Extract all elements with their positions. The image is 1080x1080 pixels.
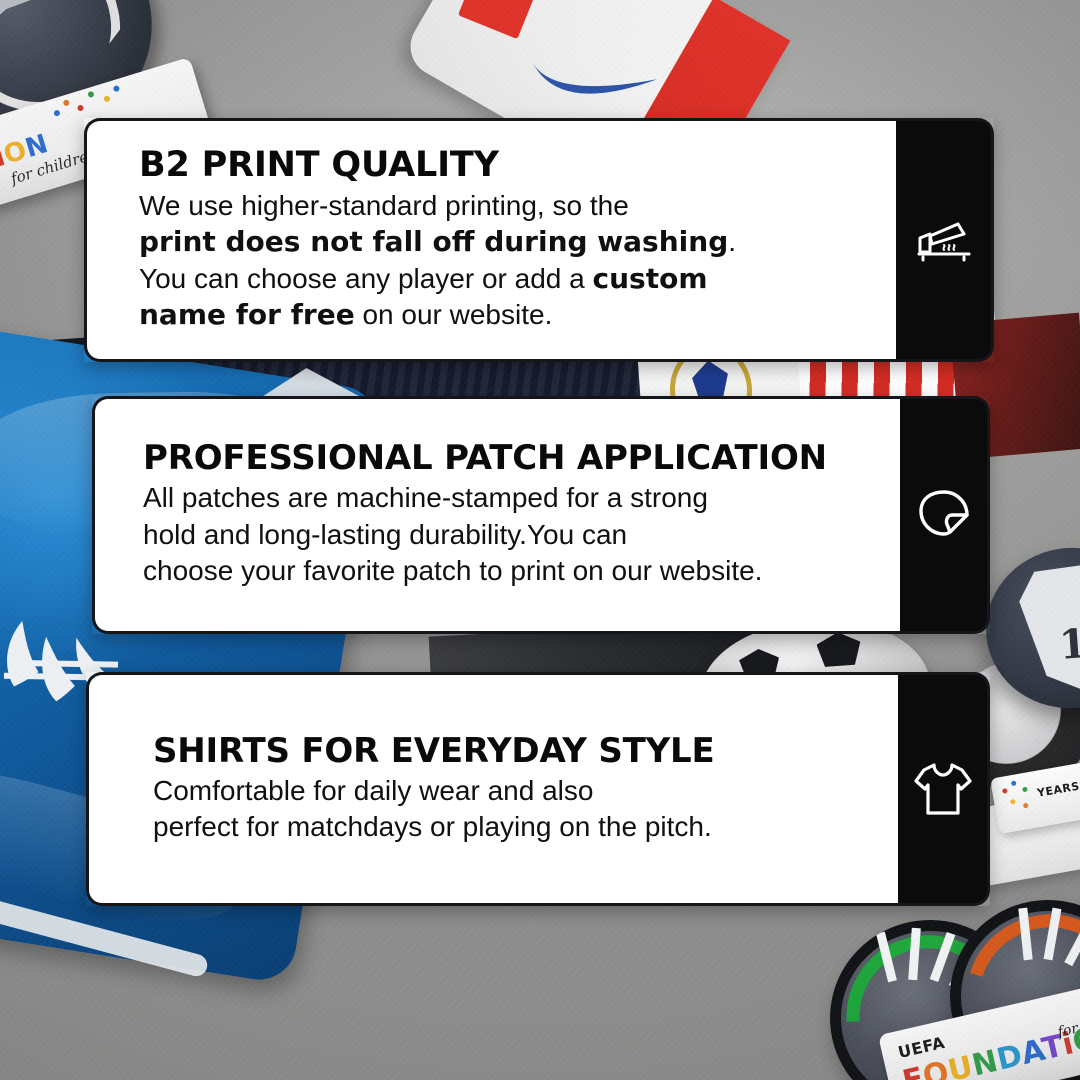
feature-card-patch-application[interactable]: PROFESSIONAL PATCH APPLICATION All patch… xyxy=(92,396,990,634)
card-line: choose your favorite patch to print on o… xyxy=(143,553,883,589)
card-icon-panel[interactable] xyxy=(900,396,990,634)
card-body: PROFESSIONAL PATCH APPLICATION All patch… xyxy=(92,396,900,634)
card-description: We use higher-standard printing, so the … xyxy=(139,188,839,334)
card-body: B2 PRINT QUALITY We use higher-standard … xyxy=(84,118,896,362)
card-body: SHIRTS FOR EVERYDAY STYLE Comfortable fo… xyxy=(86,672,898,906)
feature-card-everyday-style[interactable]: SHIRTS FOR EVERYDAY STYLE Comfortable fo… xyxy=(86,672,990,906)
card-line: hold and long-lasting durability.You can xyxy=(143,517,883,553)
patch-sticker-icon xyxy=(916,487,972,543)
card-line: name for free on our website. xyxy=(139,297,839,333)
card-icon-panel[interactable] xyxy=(896,118,994,362)
card-title: PROFESSIONAL PATCH APPLICATION xyxy=(143,440,900,476)
card-line: Comfortable for daily wear and also xyxy=(153,773,853,809)
card-line: print does not fall off during washing. xyxy=(139,224,839,260)
card-title: SHIRTS FOR EVERYDAY STYLE xyxy=(153,733,898,769)
heat-press-icon xyxy=(914,212,974,268)
card-description: Comfortable for daily wear and also perf… xyxy=(153,773,853,846)
feature-card-list: B2 PRINT QUALITY We use higher-standard … xyxy=(0,0,1080,1080)
promo-graphic: DATiON for children xyxy=(0,0,1080,1080)
tshirt-icon xyxy=(912,759,974,819)
card-line: We use higher-standard printing, so the xyxy=(139,188,839,224)
card-line: perfect for matchdays or playing on the … xyxy=(153,809,853,845)
card-line: You can choose any player or add a custo… xyxy=(139,261,839,297)
card-title: B2 PRINT QUALITY xyxy=(139,147,896,184)
feature-card-print-quality[interactable]: B2 PRINT QUALITY We use higher-standard … xyxy=(84,118,994,362)
card-icon-panel[interactable] xyxy=(898,672,990,906)
card-line: All patches are machine-stamped for a st… xyxy=(143,480,883,516)
card-description: All patches are machine-stamped for a st… xyxy=(143,480,883,589)
